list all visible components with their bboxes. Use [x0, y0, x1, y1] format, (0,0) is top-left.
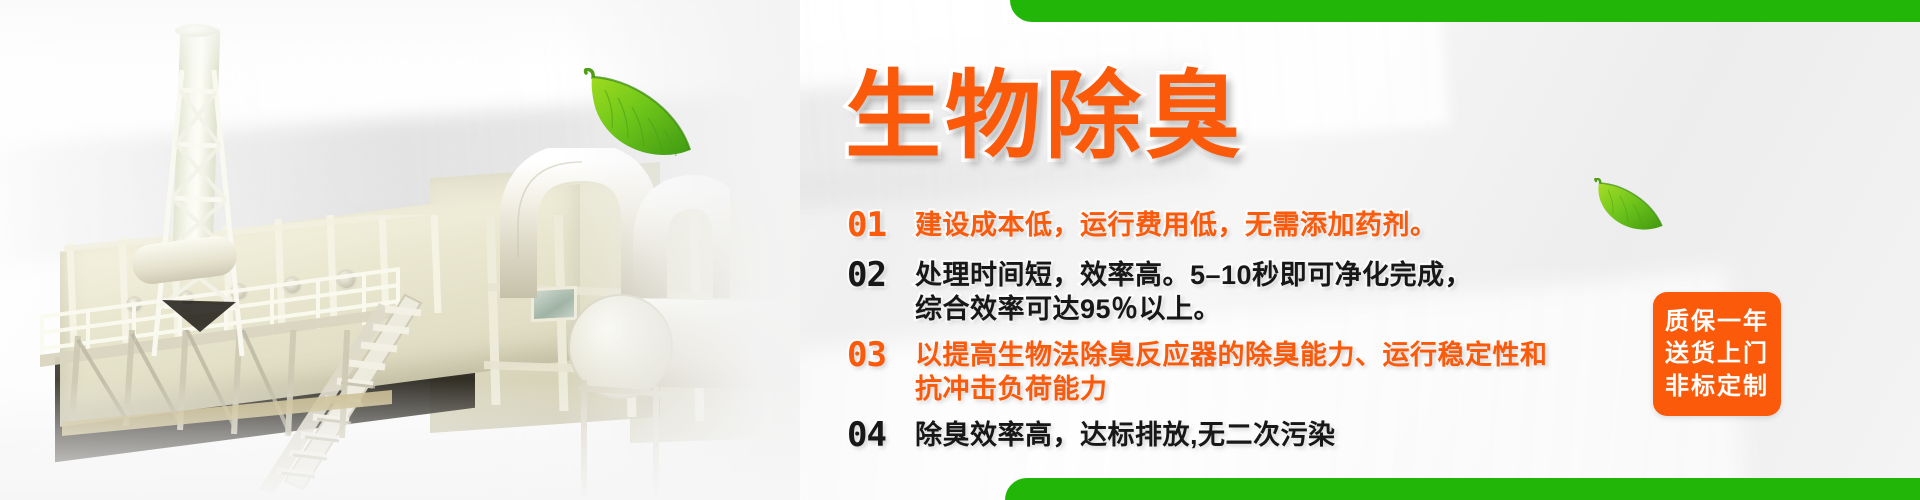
photo-fade-bottom: [0, 380, 800, 500]
green-bar-top: [1010, 0, 1920, 22]
feature-item-03: 03 以提高生物法除臭反应器的除臭能力、运行稳定性和 抗冲击负荷能力: [847, 338, 1587, 406]
feature-number: 02: [847, 258, 915, 292]
badge-line-1: 质保一年: [1665, 307, 1769, 336]
promo-banner: 生物除臭 01 建设成本低，运行费用低，无需添加药剂。 02 处理时间短，效率高…: [0, 0, 1920, 500]
feature-item-04: 04 除臭效率高，达标排放,无二次污染: [847, 418, 1587, 452]
badge-line-3: 非标定制: [1665, 372, 1769, 401]
feature-text: 建设成本低，运行费用低，无需添加药剂。: [915, 208, 1438, 242]
feature-line-2: 抗冲击负荷能力: [915, 372, 1548, 406]
feature-number: 04: [847, 418, 915, 452]
page-title: 生物除臭: [845, 68, 1245, 166]
feature-text: 处理时间短，效率高。5–10秒即可净化完成， 综合效率可达95％以上。: [915, 258, 1472, 326]
badge-line-2: 送货上门: [1665, 339, 1769, 368]
feature-item-01: 01 建设成本低，运行费用低，无需添加药剂。: [847, 208, 1587, 242]
green-bar-bottom: [1005, 478, 1920, 500]
feature-line-1: 以提高生物法除臭反应器的除臭能力、运行稳定性和: [915, 340, 1548, 370]
feature-item-02: 02 处理时间短，效率高。5–10秒即可净化完成， 综合效率可达95％以上。: [847, 258, 1587, 326]
photo-lattice-tower: [140, 70, 250, 360]
feature-number: 01: [847, 208, 915, 242]
feature-number: 03: [847, 338, 915, 372]
feature-text: 除臭效率高，达标排放,无二次污染: [915, 418, 1336, 452]
leaf-icon: [572, 68, 694, 176]
feature-text: 以提高生物法除臭反应器的除臭能力、运行稳定性和 抗冲击负荷能力: [915, 338, 1548, 406]
feature-line-1: 除臭效率高，达标排放,无二次污染: [915, 420, 1336, 450]
feature-line-2: 综合效率可达95％以上。: [915, 292, 1472, 326]
feature-list: 01 建设成本低，运行费用低，无需添加药剂。 02 处理时间短，效率高。5–10…: [847, 208, 1587, 466]
service-badge[interactable]: 质保一年 送货上门 非标定制: [1653, 292, 1781, 416]
leaf-icon: [1588, 178, 1666, 240]
feature-line-1: 处理时间短，效率高。5–10秒即可净化完成，: [915, 260, 1472, 290]
feature-line-1: 建设成本低，运行费用低，无需添加药剂。: [915, 210, 1438, 240]
